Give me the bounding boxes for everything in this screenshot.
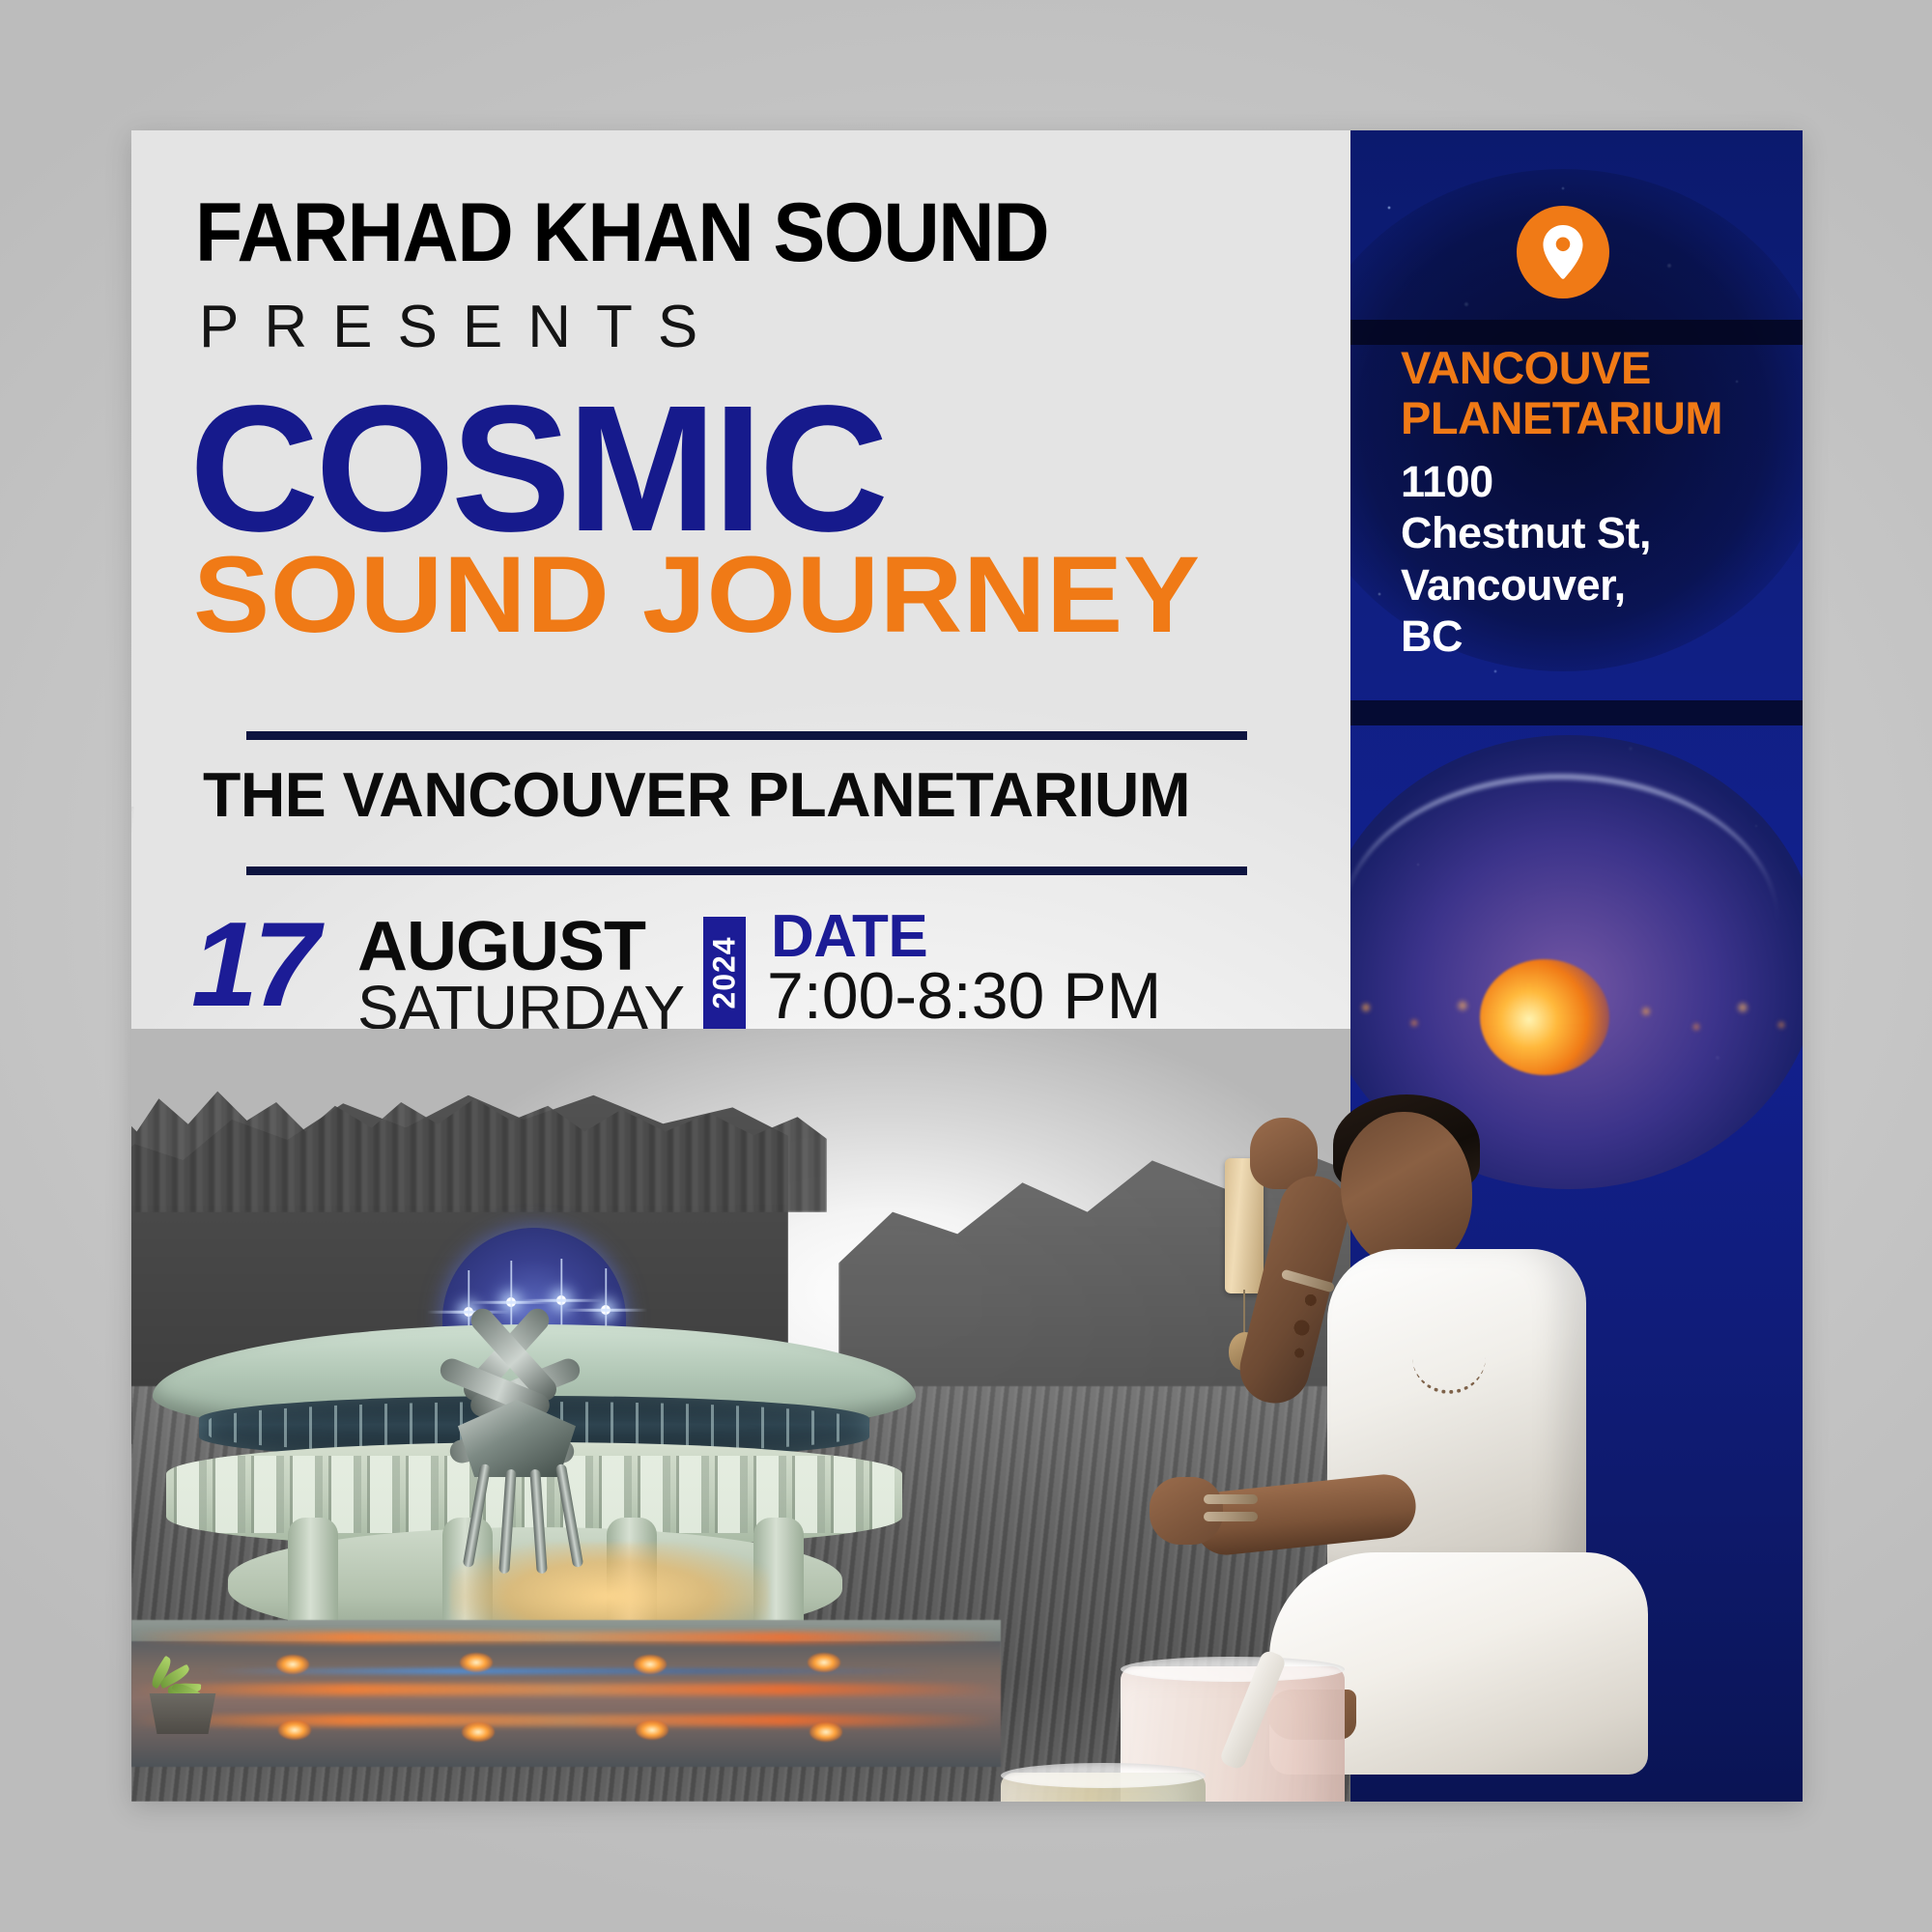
divider-rule-bottom xyxy=(246,867,1247,875)
event-title-line-2: SOUND JOURNEY xyxy=(193,541,1201,649)
location-pin-badge xyxy=(1517,206,1609,298)
plaza-lamp-reflection xyxy=(278,1720,311,1740)
event-year: 2024 xyxy=(707,936,743,1009)
dome-seam-band xyxy=(1350,700,1803,725)
dome-light-flare xyxy=(506,1297,516,1307)
plaza-lamp xyxy=(808,1653,840,1672)
planter xyxy=(135,1641,228,1734)
plaza-lamp-reflection xyxy=(462,1722,495,1742)
presents-label: PRESENTS xyxy=(199,293,723,361)
dome-projection xyxy=(1350,735,1803,1189)
light-reflection xyxy=(131,1715,1001,1726)
page-backdrop: FARHAD KHAN SOUND PRESENTS COSMIC SOUND … xyxy=(0,0,1932,1932)
plaza-lamp xyxy=(634,1655,667,1674)
sculpture-leg xyxy=(498,1469,517,1575)
crab-sculpture xyxy=(371,1348,661,1570)
venue-address: 1100 Chestnut St, Vancouver, BC xyxy=(1401,456,1787,661)
poster-main-column: FARHAD KHAN SOUND PRESENTS COSMIC SOUND … xyxy=(131,130,1350,1802)
event-year-tag: 2024 xyxy=(703,917,746,1029)
brand-title: FARHAD KHAN SOUND xyxy=(195,194,1221,273)
dome-light-flare xyxy=(556,1295,566,1305)
projected-sun xyxy=(1480,959,1609,1075)
light-reflection xyxy=(131,1684,1001,1695)
light-reflection xyxy=(131,1632,1001,1643)
event-day-number: 17 xyxy=(191,905,315,1025)
venue-info-block: VANCOUVE PLANETARIUM 1100 Chestnut St, V… xyxy=(1401,343,1787,662)
sculpture-leg xyxy=(463,1463,492,1568)
plaza-lamp-reflection xyxy=(810,1722,842,1742)
divider-rule-top xyxy=(246,731,1247,740)
venue-subtitle: THE VANCOUVER PLANETARIUM xyxy=(203,758,1274,831)
event-date-row: 17 AUGUST SATURDAY 2024 DATE 7:00-8:30 P… xyxy=(191,911,1341,1037)
plaza-lamp xyxy=(276,1655,309,1674)
event-title-line-1: COSMIC xyxy=(189,380,885,559)
dome-light-flare xyxy=(601,1305,611,1315)
plaza-lamp-reflection xyxy=(636,1720,668,1740)
planetarium-photo xyxy=(131,1029,1350,1802)
poster-sidebar: VANCOUVE PLANETARIUM 1100 Chestnut St, V… xyxy=(1350,130,1803,1802)
sculpture-leg xyxy=(529,1469,548,1575)
venue-name: VANCOUVE PLANETARIUM xyxy=(1401,343,1787,442)
event-month: AUGUST xyxy=(357,915,705,979)
planter-pot xyxy=(145,1693,220,1734)
date-label: DATE xyxy=(771,907,927,967)
sculpture-leg xyxy=(555,1463,584,1568)
event-month-weekday: AUGUST SATURDAY xyxy=(357,915,705,1038)
event-poster: FARHAD KHAN SOUND PRESENTS COSMIC SOUND … xyxy=(131,130,1803,1802)
reflecting-pool xyxy=(131,1641,1001,1767)
plaza-lamp xyxy=(460,1653,493,1672)
event-time: 7:00-8:30 PM xyxy=(767,963,1161,1029)
location-pin-icon xyxy=(1541,225,1585,279)
